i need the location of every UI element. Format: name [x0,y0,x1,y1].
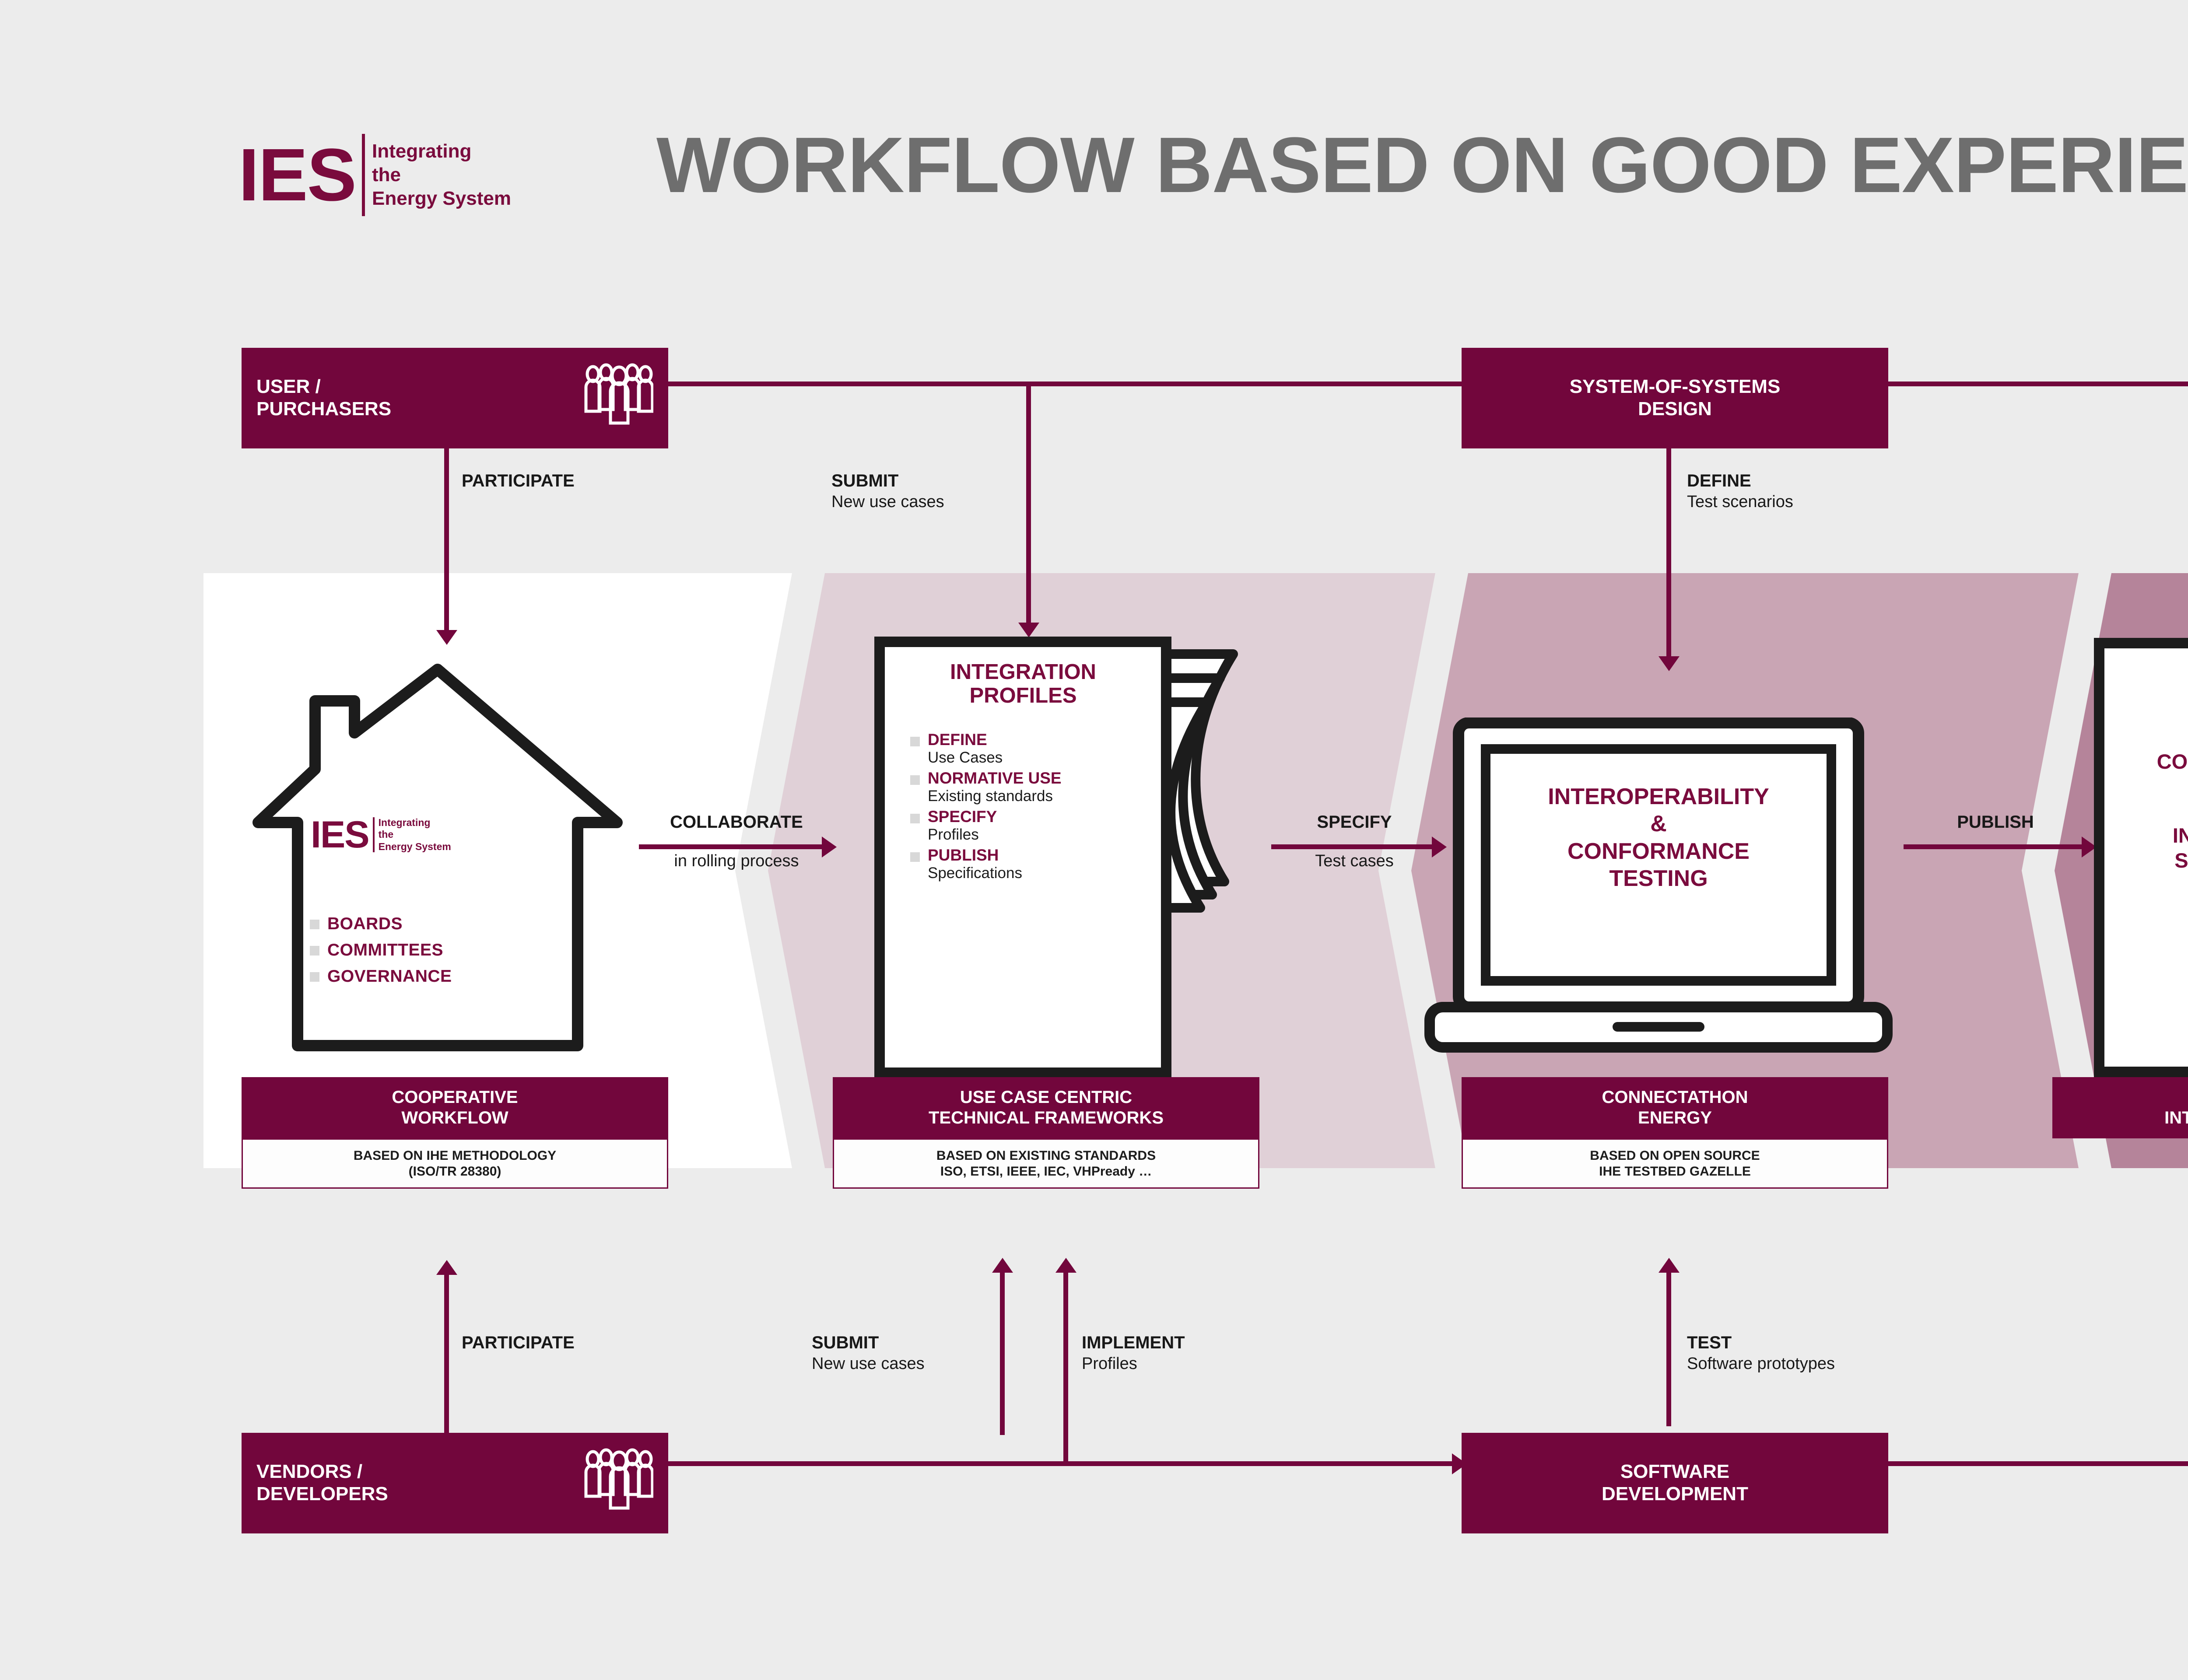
connector-label-publish: PUBLISH [1904,812,2087,833]
profiles-title-line2: PROFILES [969,684,1076,707]
caption-line2: INTEROPERABLE PRODUCTS [2164,1108,2188,1128]
footnote-line1: BASED ON EXISTING STANDARDS [936,1148,1156,1163]
connector-submit-top-line [1026,384,1031,625]
bullet-square-icon [910,814,920,823]
connector-submit-bottom-arrow [992,1258,1013,1273]
connector-term: SPECIFY [1271,812,1438,833]
stage-integration-profiles[interactable]: INTEGRATION PROFILES DEFINE Use Cases NO… [874,637,1294,1078]
house-logo-tagline: Integrating the Energy System [379,817,451,853]
footnote-cooperative-workflow: BASED ON IHE METHODOLOGY (ISO/TR 28380) [242,1138,668,1189]
registry-title-line5: STATEMENTS [2174,849,2188,872]
list-item-body: DEFINE Use Cases [928,731,1003,766]
connector-define-top-arrow [1659,656,1680,671]
connector-term: PARTICIPATE [462,1332,575,1354]
footnote-use-case-centric: BASED ON EXISTING STANDARDS ISO, ETSI, I… [833,1138,1259,1189]
connector-offer-horizontal [1884,1461,2188,1466]
connector-desc: in rolling process [642,851,831,871]
connector-participate-bottom-line [444,1273,449,1435]
item-desc: Profiles [928,826,997,843]
connector-term: COLLABORATE [642,812,831,833]
connector-term: DEFINE [1687,470,1793,492]
footnote-line1: BASED ON OPEN SOURCE [1590,1148,1760,1163]
softdev-line2: DEVELOPMENT [1602,1483,1748,1505]
connector-term: PARTICIPATE [462,470,575,492]
bullet-square-icon [310,946,319,955]
bullet-square-icon [910,737,920,746]
bullet-label: COMMITTEES [327,941,443,960]
caption-registry-of-interoperable-products: REGISTRY OF INTEROPERABLE PRODUCTS [2052,1077,2188,1138]
people-group-icon [583,1448,653,1519]
caption-line1: CONNECTATHON [1602,1087,1748,1108]
page-title: WORKFLOW BASED ON GOOD EXPERIENCE [656,126,2188,205]
connector-desc: Test scenarios [1687,492,1793,512]
caption-line1: USE CASE CENTRIC [960,1087,1132,1108]
connector-desc: New use cases [812,1354,925,1374]
list-item: DEFINE Use Cases [910,731,1155,766]
logo-divider [362,134,365,216]
people-group-icon [583,363,653,434]
house-logo-divider [373,817,375,852]
item-term: PUBLISH [928,846,1022,864]
connector-test-line [1666,1271,1671,1426]
house-bullet-list: BOARDS COMMITTEES GOVERNANCE [310,914,452,993]
footnote-connectathon-energy: BASED ON OPEN SOURCE IHE TESTBED GAZELLE [1462,1138,1888,1189]
house-tagline-1: Integrating [379,817,431,828]
house-logo-mark: IES [311,816,369,854]
connector-label-specify-desc: Test cases [1271,851,1438,871]
registry-title-line4: INTEGRATION [2173,824,2188,847]
connector-desc: New use cases [831,492,944,512]
item-term: NORMATIVE USE [928,769,1062,787]
list-item-body: NORMATIVE USE Existing standards [928,769,1062,805]
list-item: BOARDS [310,914,452,934]
connector-label-implement: IMPLEMENT Profiles [1082,1332,1185,1374]
actor-vendors-developers[interactable]: VENDORS / DEVELOPERS [242,1433,668,1533]
list-item-body: SPECIFY Profiles [928,808,997,843]
connector-collaborate-line [639,844,823,849]
house-icon [245,661,630,1054]
connector-label-submit-top: SUBMIT New use cases [831,470,944,512]
caption-cooperative-workflow: COOPERATIVE WORKFLOW [242,1077,668,1138]
connector-implement-line [1063,1271,1068,1463]
process-software-development[interactable]: SOFTWARE DEVELOPMENT [1462,1433,1888,1533]
bullet-label: GOVERNANCE [327,967,452,986]
caption-line2: ENERGY [1638,1108,1712,1128]
caption-connectathon-energy: CONNECTATHON ENERGY [1462,1077,1888,1138]
connector-implement-arrow [1055,1258,1076,1273]
connector-label-participate-bottom: PARTICIPATE [462,1332,575,1354]
list-item: NORMATIVE USE Existing standards [910,769,1155,805]
connector-top-trunk [665,381,2188,386]
connector-label-collaborate-desc: in rolling process [642,851,831,871]
caption-line2: WORKFLOW [401,1108,508,1128]
connector-submit-bottom-line [1000,1271,1005,1435]
actor-vendors-developers-label: VENDORS / DEVELOPERS [256,1461,388,1505]
profiles-title-line1: INTEGRATION [950,660,1096,684]
connector-label-participate-top: PARTICIPATE [462,470,575,492]
list-item: PUBLISH Specifications [910,846,1155,882]
actor-user-purchasers-line2: PURCHASERS [256,398,391,420]
bullet-square-icon [910,852,920,862]
list-item: SPECIFY Profiles [910,808,1155,843]
connector-participate-top-arrow [436,630,457,645]
sos-line1: SYSTEM-OF-SYSTEMS [1570,376,1781,398]
bullet-label: BOARDS [327,914,403,934]
list-item-body: PUBLISH Specifications [928,846,1022,882]
actor-user-purchasers-line1: USER / [256,376,321,397]
laptop-icon [1424,717,1893,1072]
house-logo: IES Integrating the Energy System [311,816,451,854]
footnote-line1: BASED ON IHE METHODOLOGY [354,1148,556,1163]
item-desc: Use Cases [928,749,1003,766]
connector-label-specify: SPECIFY [1271,812,1438,833]
profiles-title: INTEGRATION PROFILES [892,661,1154,708]
connector-term: PUBLISH [1904,812,2087,833]
connector-term: SUBMIT [831,470,944,492]
screen-line2: & [1650,811,1667,836]
actor-user-purchasers[interactable]: USER / PURCHASERS [242,348,668,448]
logo-tagline: Integrating the Energy System [372,140,511,210]
connector-term: SUBMIT [812,1332,925,1354]
connector-term: IMPLEMENT [1082,1332,1185,1354]
logo-mark: IES [238,138,356,212]
process-system-of-systems-design[interactable]: SYSTEM-OF-SYSTEMS DESIGN [1462,348,1888,448]
footnote-line2: (ISO/TR 28380) [409,1164,501,1179]
connector-desc: Profiles [1082,1354,1185,1374]
footnote-line2: ISO, ETSI, IEEE, IEC, VHPready … [940,1164,1152,1179]
connector-label-define-top: DEFINE Test scenarios [1687,470,1793,512]
actor-vendors-developers-line2: DEVELOPERS [256,1483,388,1505]
logo-tagline-line1: Integrating [372,140,471,162]
connector-term: TEST [1687,1332,1835,1354]
bullet-square-icon [310,972,319,982]
item-desc: Specifications [928,864,1022,882]
stage-connectathon-energy[interactable]: INTEROPERABILITY & CONFORMANCE TESTING [1424,717,1893,1072]
house-tagline-3: Energy System [379,841,451,852]
item-desc: Existing standards [928,787,1062,805]
logo-tagline-line3: Energy System [372,188,511,209]
stage-registry-of-interoperable-products[interactable]: CONNECTATHON RESULTS & INTEGRATION STATE… [2094,638,2188,1078]
connector-specify-line [1271,844,1433,849]
laptop-screen-text: INTEROPERABILITY & CONFORMANCE TESTING [1494,783,1823,892]
connector-define-top-line [1666,420,1671,658]
profiles-item-list: DEFINE Use Cases NORMATIVE USE Existing … [910,731,1155,885]
connector-submit-top-arrow [1018,623,1039,637]
logo-tagline-line2: the [372,164,401,185]
connector-vendors-to-software-line [667,1461,1453,1466]
sos-line2: DESIGN [1638,398,1712,420]
registry-title: CONNECTATHON RESULTS & INTEGRATION STATE… [2111,749,2188,873]
connector-label-submit-bottom: SUBMIT New use cases [812,1332,925,1374]
screen-line1: INTEROPERABILITY [1548,784,1769,809]
bullet-square-icon [310,920,319,929]
connector-label-collaborate: COLLABORATE [642,812,831,833]
actor-user-purchasers-label: USER / PURCHASERS [256,376,391,420]
connector-participate-bottom-arrow [436,1260,457,1275]
softdev-line1: SOFTWARE [1620,1461,1729,1483]
connector-publish-line [1904,844,2083,849]
list-item: GOVERNANCE [310,967,452,986]
house-tagline-2: the [379,829,394,840]
list-item: COMMITTEES [310,941,452,960]
actor-vendors-developers-line1: VENDORS / [256,1461,362,1482]
bullet-square-icon [910,775,920,785]
caption-line1: COOPERATIVE [392,1087,518,1108]
screen-line3: CONFORMANCE [1567,839,1750,864]
registry-title-line1: CONNECTATHON [2157,750,2188,773]
connector-label-test: TEST Software prototypes [1687,1332,1835,1374]
caption-line2: TECHNICAL FRAMEWORKS [929,1108,1164,1128]
connector-desc: Software prototypes [1687,1354,1835,1374]
connector-test-arrow [1659,1258,1680,1273]
stage-cooperative-workflow[interactable]: IES Integrating the Energy System BOARDS… [245,661,630,1146]
caption-use-case-centric: USE CASE CENTRIC TECHNICAL FRAMEWORKS [833,1077,1259,1138]
item-term: SPECIFY [928,808,997,826]
item-term: DEFINE [928,731,1003,749]
brand-logo: IES Integrating the Energy System [238,131,624,219]
screen-line4: TESTING [1609,866,1708,891]
footnote-line2: IHE TESTBED GAZELLE [1599,1164,1751,1179]
connector-desc: Test cases [1271,851,1438,871]
